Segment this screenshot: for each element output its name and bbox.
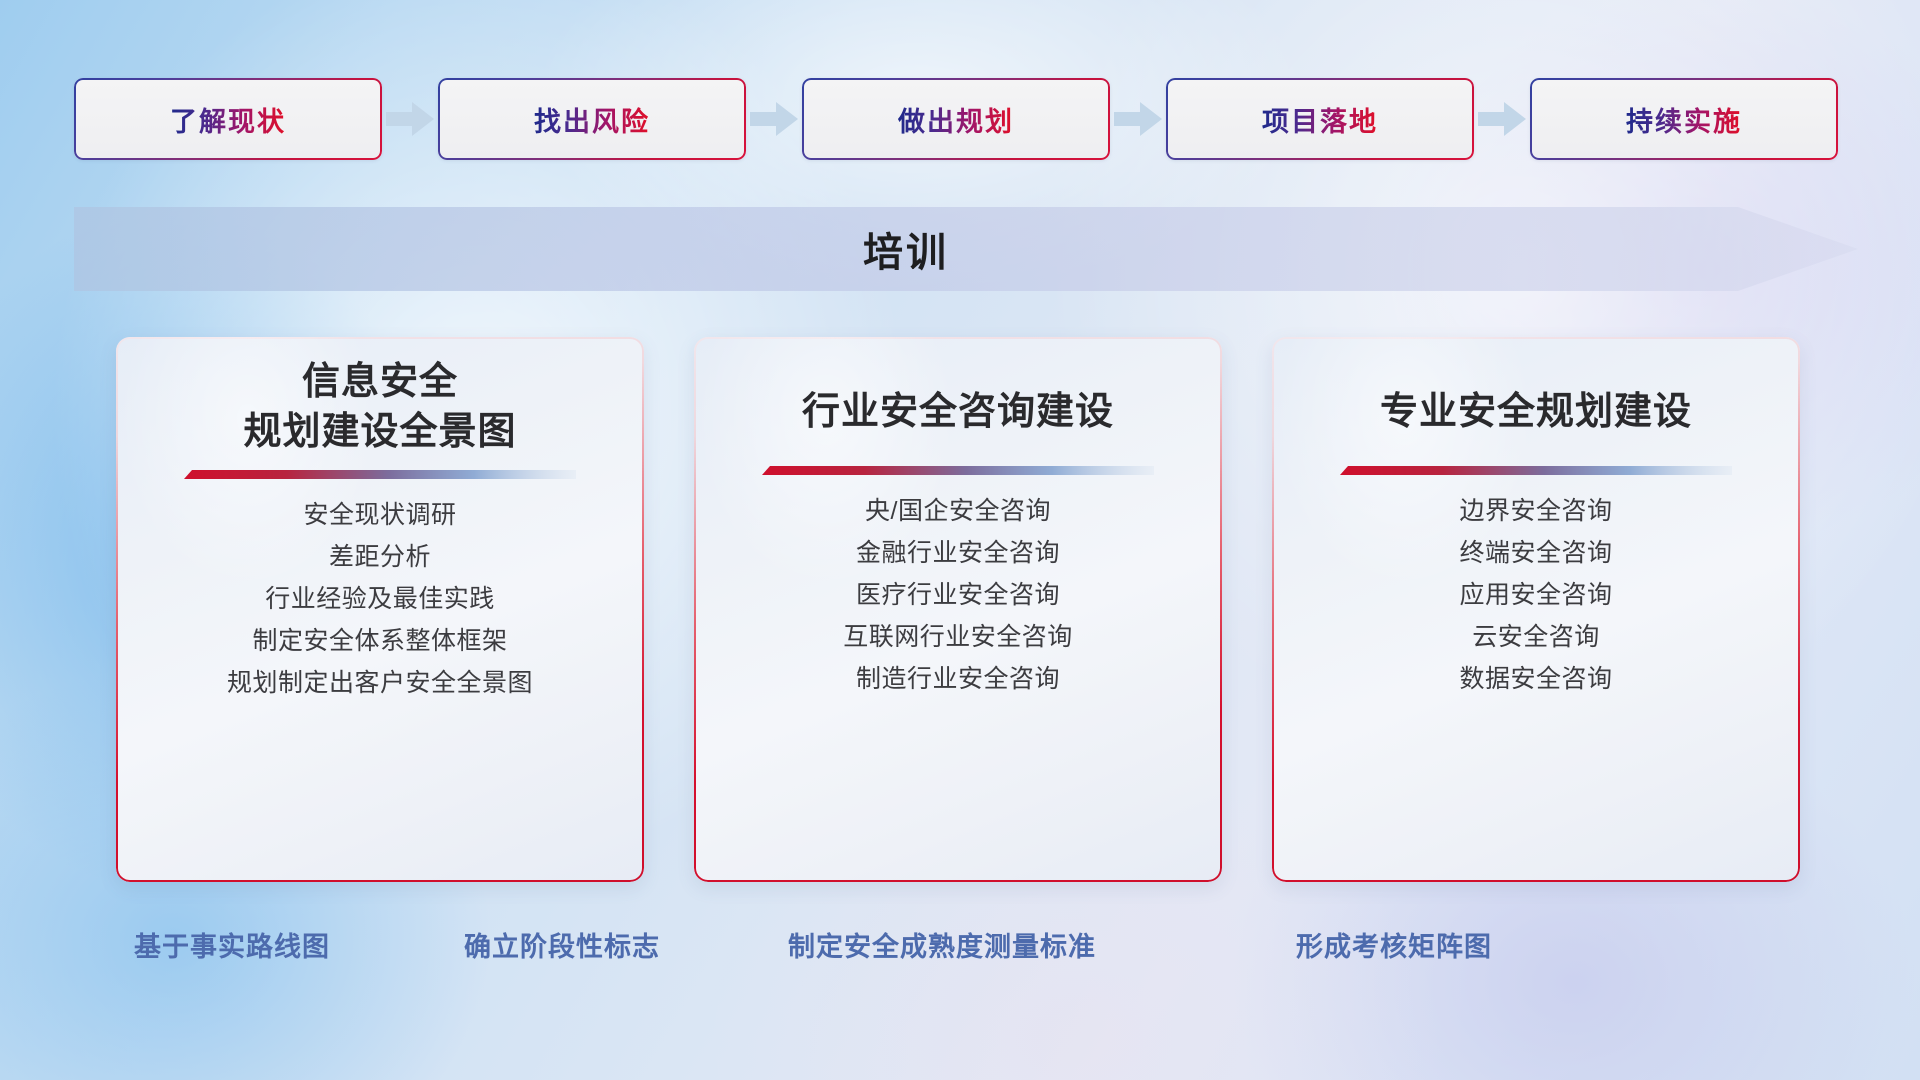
banner-title: 培训 <box>74 220 1858 278</box>
right-arrow-icon <box>1110 78 1166 160</box>
bottom-label: 基于事实路线图 <box>134 925 330 964</box>
card-item-list: 边界安全咨询 终端安全咨询 应用安全咨询 云安全咨询 数据安全咨询 <box>1272 499 1800 709</box>
card-divider-icon <box>762 463 1154 483</box>
background-white-glow-top <box>384 0 1459 367</box>
card-list-item: 边界安全咨询 <box>1459 499 1612 524</box>
process-step-label: 找出风险 <box>534 100 650 139</box>
process-step-1[interactable]: 了解现状 <box>74 78 382 160</box>
bottom-label: 确立阶段性标志 <box>464 925 660 964</box>
process-step-3[interactable]: 做出规划 <box>802 78 1110 160</box>
card-list-item: 规划制定出客户安全全景图 <box>227 671 533 696</box>
process-step-label: 了解现状 <box>170 100 286 139</box>
card-title-line: 规划建设全景图 <box>116 407 644 457</box>
card-list-item: 央/国企安全咨询 <box>865 499 1051 524</box>
right-arrow-icon <box>746 78 802 160</box>
process-step-label: 持续实施 <box>1626 100 1742 139</box>
card-list-item: 数据安全咨询 <box>1459 667 1612 692</box>
card-list-item: 差距分析 <box>329 545 431 570</box>
right-arrow-icon <box>382 78 438 160</box>
card-item-list: 安全现状调研 差距分析 行业经验及最佳实践 制定安全体系整体框架 规划制定出客户… <box>116 503 644 713</box>
card-list-item: 金融行业安全咨询 <box>856 541 1060 566</box>
process-step-4[interactable]: 项目落地 <box>1166 78 1474 160</box>
card-list-item: 制造行业安全咨询 <box>856 667 1060 692</box>
card-list-item: 安全现状调研 <box>303 503 456 528</box>
card-list-item: 互联网行业安全咨询 <box>843 625 1073 650</box>
card-industry-security-consulting[interactable]: 行业安全咨询建设 央 <box>694 337 1222 882</box>
card-list-item: 终端安全咨询 <box>1459 541 1612 566</box>
card-title-line: 信息安全 <box>116 357 644 407</box>
card-title: 专业安全规划建设 <box>1272 387 1800 437</box>
process-step-label: 做出规划 <box>898 100 1014 139</box>
process-step-2[interactable]: 找出风险 <box>438 78 746 160</box>
card-professional-security-planning[interactable]: 专业安全规划建设 边 <box>1272 337 1800 882</box>
card-divider-icon <box>184 467 576 487</box>
bottom-label: 制定安全成熟度测量标准 <box>788 925 1096 964</box>
card-list-item: 云安全咨询 <box>1472 625 1600 650</box>
card-info-security-blueprint[interactable]: 信息安全 规划建设全景图 <box>116 337 644 882</box>
training-banner: 培训 <box>74 207 1858 291</box>
bottom-label-row: 基于事实路线图 确立阶段性标志 制定安全成熟度测量标准 形成考核矩阵图 <box>0 925 1920 975</box>
process-step-label: 项目落地 <box>1262 100 1378 139</box>
card-title-line: 行业安全咨询建设 <box>694 387 1222 437</box>
card-title: 信息安全 规划建设全景图 <box>116 357 644 457</box>
card-list-item: 行业经验及最佳实践 <box>265 587 495 612</box>
process-step-row: 了解现状 找出风险 做出规划 项目落地 持续实施 <box>74 78 1846 160</box>
card-title: 行业安全咨询建设 <box>694 387 1222 437</box>
card-row: 信息安全 规划建设全景图 <box>116 337 1800 882</box>
card-title-line: 专业安全规划建设 <box>1272 387 1800 437</box>
card-item-list: 央/国企安全咨询 金融行业安全咨询 医疗行业安全咨询 互联网行业安全咨询 制造行… <box>694 499 1222 709</box>
card-list-item: 制定安全体系整体框架 <box>252 629 507 654</box>
right-arrow-icon <box>1474 78 1530 160</box>
process-step-5[interactable]: 持续实施 <box>1530 78 1838 160</box>
card-list-item: 医疗行业安全咨询 <box>856 583 1060 608</box>
card-list-item: 应用安全咨询 <box>1459 583 1612 608</box>
card-divider-icon <box>1340 463 1732 483</box>
bottom-label: 形成考核矩阵图 <box>1296 925 1492 964</box>
